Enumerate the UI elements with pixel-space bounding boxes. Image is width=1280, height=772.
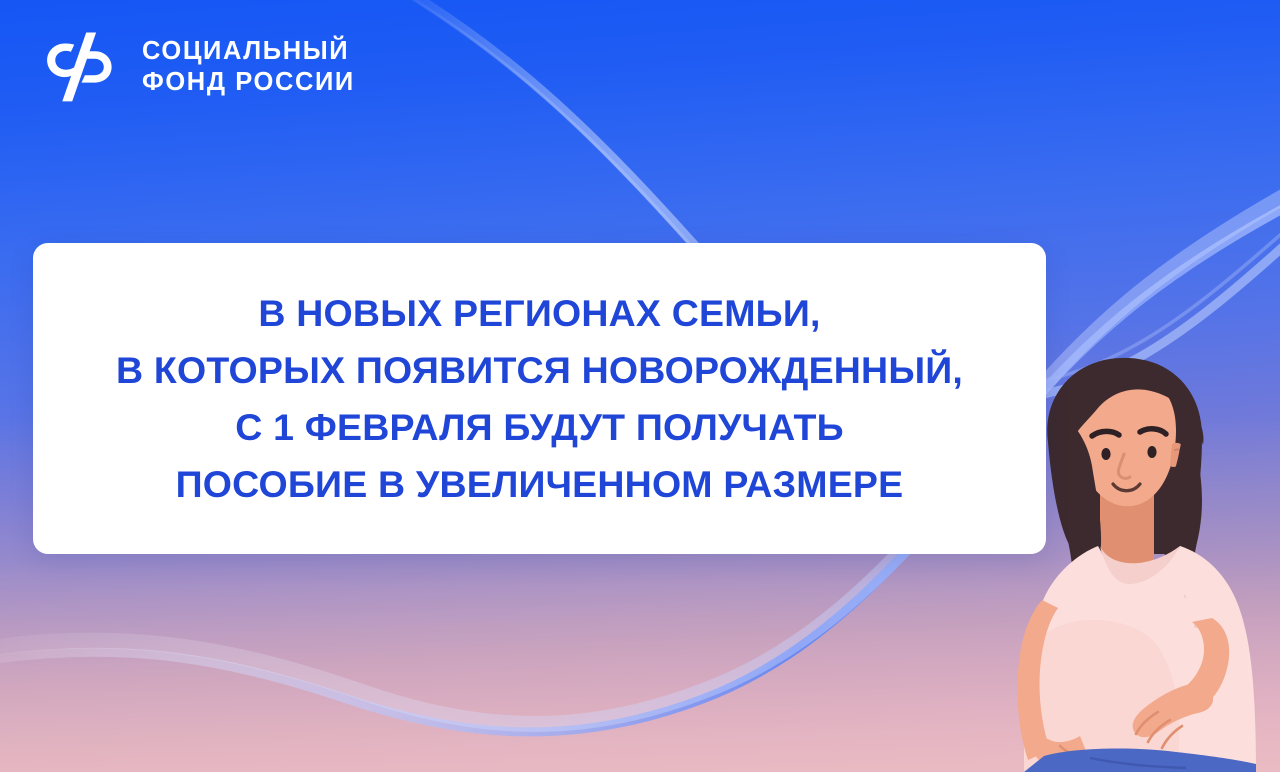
promo-banner: СОЦИАЛЬНЫЙФОНД РОССИИ (0, 0, 1280, 772)
headline-card: В НОВЫХ РЕГИОНАХ СЕМЬИ, В КОТОРЫХ ПОЯВИТ… (33, 243, 1046, 554)
logo-wordmark-line-1: СОЦИАЛЬНЫЙ (142, 37, 349, 65)
headline-line-3: С 1 ФЕВРАЛЯ БУДУТ ПОЛУЧАТЬ (116, 399, 963, 456)
headline-line-2: В КОТОРЫХ ПОЯВИТСЯ НОВОРОЖДЕННЫЙ, (116, 342, 963, 399)
sfr-logo-wordmark: СОЦИАЛЬНЫЙФОНД РОССИИ (142, 36, 355, 98)
headline-line-4: ПОСОБИЕ В УВЕЛИЧЕННОМ РАЗМЕРЕ (116, 456, 963, 513)
page-title: В НОВЫХ РЕГИОНАХ СЕМЬИ, В КОТОРЫХ ПОЯВИТ… (98, 285, 981, 513)
sfr-logo: СОЦИАЛЬНЫЙФОНД РОССИИ (38, 30, 355, 104)
sfr-monogram-icon (38, 30, 124, 104)
logo-wordmark-line-2: ФОНД РОССИИ (142, 68, 355, 96)
headline-line-1: В НОВЫХ РЕГИОНАХ СЕМЬИ, (116, 285, 963, 342)
